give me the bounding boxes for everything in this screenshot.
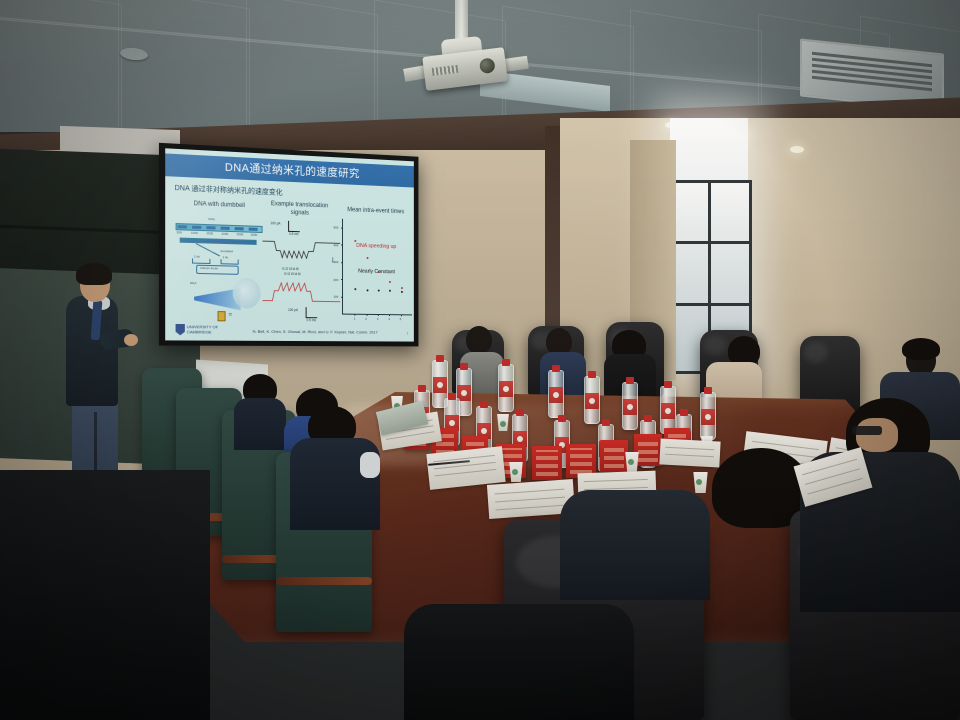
attendee-back-1-head [466,326,492,354]
chart-x-tick [366,314,367,316]
chart-point [389,290,391,292]
slide-subtitle: DNA 通过非对称纳米孔的速度变化 [175,183,283,198]
water-bottle[interactable] [660,386,676,434]
presenter-hand [124,334,138,346]
chart-point [366,289,368,291]
slide-citation: N. Bell, K. Chen, S. Ghosal, M. Ricci, a… [253,329,378,335]
translocation-trace-top [263,236,341,268]
chart-y-tick [341,296,343,297]
chart-y-tick-label: 500 [333,226,338,230]
chart-point [401,287,403,289]
chart-point [355,240,357,242]
presenter-hair [76,263,112,285]
chart-y-axis-ticks: 100200300400500 [343,219,412,222]
chart-x-tick-label: 4 [388,317,390,321]
chart-y-tick [341,279,343,280]
chart-x-tick [401,314,402,316]
chart-point [355,288,357,290]
chalkboard [0,149,170,278]
nanopore-vesicle-icon [233,278,261,309]
gold-marker-icon [218,311,226,321]
water-bottle[interactable] [498,364,514,412]
downlight-icon [790,146,804,153]
presentation-slide: DNA通过纳米孔的速度研究 DNA 通过非对称纳米孔的速度变化 DNA with… [165,148,414,341]
cambridge-logo: UNIVERSITY OF CAMBRIDGE [176,324,219,336]
chart-point [366,257,368,259]
red-name-card[interactable] [634,434,662,466]
attendee-left-1-body [234,398,286,450]
logo-line-2: CAMBRIDGE [187,330,218,335]
projection-screen: DNA通过纳米孔的速度研究 DNA 通过非对称纳米孔的速度变化 DNA with… [159,143,418,347]
chart-y-tick-label: 100 [333,295,338,299]
foreground-shadow [0,470,210,720]
chart-y-tick [341,262,343,263]
red-name-card[interactable] [600,440,628,472]
chart-x-tick-label: 3 [377,317,379,321]
chart-x-tick-label: 5 [400,317,402,321]
translocation-trace-bottom [263,274,341,305]
panel-dna-construct: DNA 500 1000 1500 2000 2500 3000 dumbbel… [176,213,263,323]
attendee-front-2-face [856,418,898,452]
chart-point [378,290,380,292]
red-name-card[interactable] [532,446,562,480]
panel-translocation-signals: 100 pA 0.5 ms t1 t2 t3 t4 t5 t1 t2 t3 t4… [263,214,341,328]
chart-x-tick-label: 1 [354,317,356,321]
chart-y-tick-label: 400 [333,243,338,247]
projector-vent-icon [432,65,459,76]
equals-sign: = [229,312,233,318]
projector-lens-icon [479,57,496,74]
panel-heading-intra-event: Mean intra-event times [340,207,411,217]
panel-heading-dna-dumbbell: DNA with dumbbell [180,201,259,212]
chart-point [389,281,391,283]
foreground-chair-back[interactable] [404,604,634,720]
meeting-room-photo: DNA通过纳米孔的速度研究 DNA 通过非对称纳米孔的速度变化 DNA with… [0,0,960,720]
chart-y-tick-label: 200 [333,277,338,281]
attendee-left-3-collar [360,452,380,478]
chart-x-axis-ticks: 12345 [343,219,412,222]
chart-x-tick [389,314,390,316]
scale-label-current-top: 100 pA [270,221,280,225]
chart-y-tick [341,245,343,246]
chart-annotation-nearly-constant: Nearly Constant [358,269,395,276]
chart-x-tick [378,314,379,316]
water-bottle[interactable] [700,392,716,440]
water-bottle[interactable] [584,376,600,424]
slide-page-number: 7 [407,332,409,336]
chart-annotation-speeding-up: DNA speeding up [356,243,396,250]
document[interactable] [659,438,720,467]
shield-icon [176,324,185,335]
scale-label-time-top: 0.5 ms [289,232,298,236]
water-bottle[interactable] [548,370,564,418]
chart-x-tick [355,314,356,316]
peak-time-labels: t1 t2 t3 t4 t5 [282,267,298,271]
chart-y-tick [341,227,343,228]
scale-label-time-bottom: 0.5 ms [307,318,316,322]
chart-y-tick-label: 300 [333,260,338,264]
chart-plot-area [343,219,412,222]
chart-mean-intra-event-times: time 12345 100200300400500 DNA speeding … [342,219,412,316]
scale-label-current-bottom: 100 pA [288,308,298,312]
glasses-icon [852,426,882,435]
chart-x-tick-label: 2 [365,317,367,321]
chart-point [401,291,403,293]
attendee-right-1-hair [902,338,940,360]
water-bottle[interactable] [622,382,638,430]
attendee-front-1-body [560,490,710,600]
